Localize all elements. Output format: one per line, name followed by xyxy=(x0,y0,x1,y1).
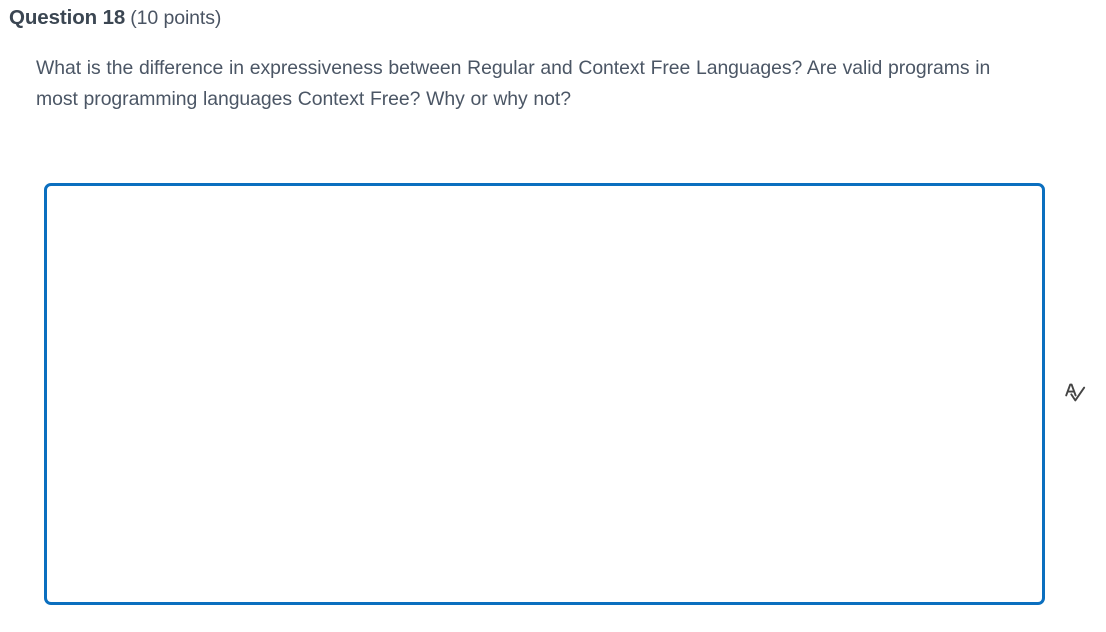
question-prompt-text: What is the difference in expressiveness… xyxy=(36,53,1026,116)
page-title: Question 18 xyxy=(9,6,125,29)
answer-input[interactable] xyxy=(47,186,1042,602)
spellcheck-icon[interactable] xyxy=(1061,379,1091,409)
question-points: (10 points) xyxy=(130,7,221,29)
answer-box[interactable] xyxy=(44,183,1045,605)
question-header: Question 18(10 points) xyxy=(9,4,221,34)
quiz-question-page: Question 18(10 points) What is the diffe… xyxy=(0,0,1106,632)
